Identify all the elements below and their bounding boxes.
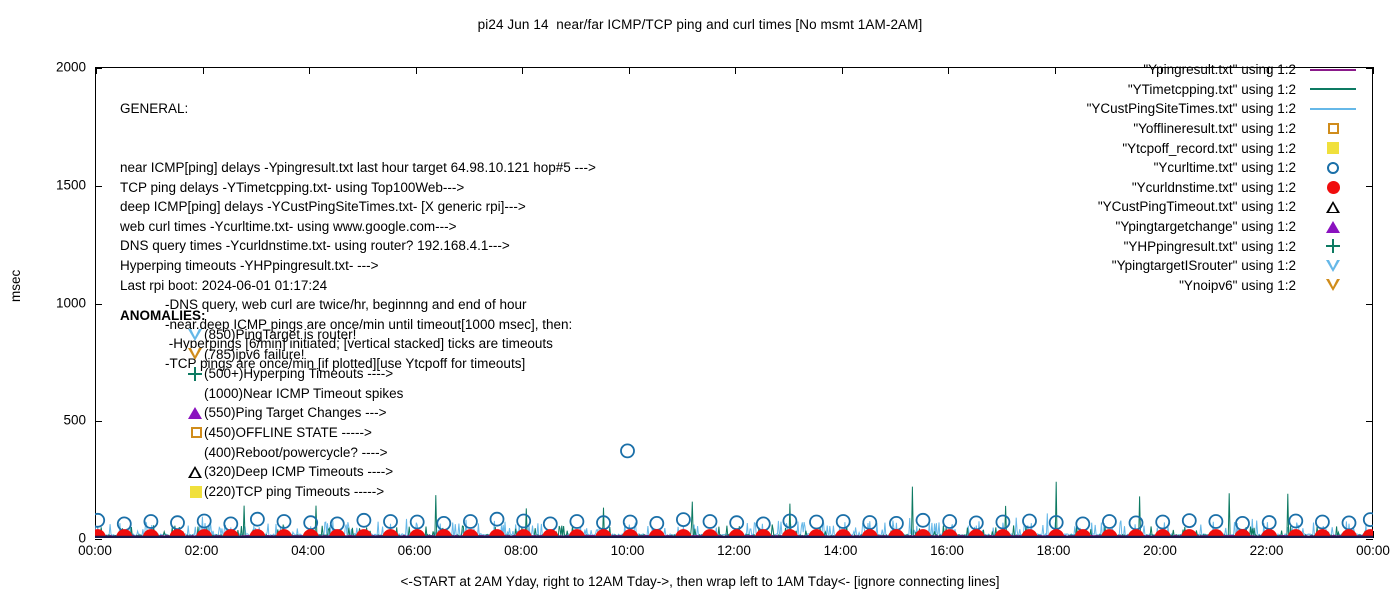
triangle-down-open-blue-icon [1326, 260, 1340, 272]
legend-entry: "Ytcpoff_record.txt" using 1:2 [950, 138, 1370, 158]
circle-filled-red-icon [1327, 181, 1340, 194]
legend-entry: "Ycurltime.txt" using 1:2 [950, 158, 1370, 178]
legend-key [1296, 256, 1370, 276]
chart-legend: "Ypingresult.txt" using 1:2"YTimetcpping… [950, 60, 1370, 295]
legend-key [1296, 80, 1370, 100]
y-axis-label: msec [8, 270, 23, 302]
anomalies-heading: ANOMALIES: [120, 306, 206, 326]
curltime-point [677, 513, 690, 526]
triangle-up-open-black-icon [1326, 201, 1340, 213]
curltime-point [1289, 515, 1302, 528]
square-open-orange-icon [1328, 123, 1339, 134]
chart-title: pi24 Jun 14 near/far ICMP/TCP ping and c… [0, 17, 1400, 32]
legend-line-teal-icon [1310, 88, 1356, 90]
curltime-point [1209, 515, 1222, 528]
curltime-point [171, 516, 184, 529]
legend-key [1296, 138, 1370, 158]
curltime-point [1050, 516, 1063, 529]
anomaly-marker [120, 364, 204, 384]
curltime-point [251, 513, 264, 526]
legend-entry: "YTimetcpping.txt" using 1:2 [950, 80, 1370, 100]
anomaly-marker [120, 482, 204, 502]
general-line: deep ICMP[ping] delays -YCustPingSiteTim… [120, 197, 596, 217]
general-line: web curl times -Ycurltime.txt- using www… [120, 217, 596, 237]
triangle-down-open-orange-icon [188, 348, 202, 360]
anomaly-label: (850)PingTarget is router! [204, 325, 356, 345]
legend-key [1296, 236, 1370, 256]
anomaly-label: (450)OFFLINE STATE -----> [204, 423, 372, 443]
anomaly-label: (400)Reboot/powercycle? ----> [204, 443, 387, 463]
curltime-point [943, 515, 956, 528]
legend-key [1296, 119, 1370, 139]
curltime-point [491, 513, 504, 526]
legend-key [1296, 178, 1370, 198]
curltime-point [810, 516, 823, 529]
legend-key [1296, 276, 1370, 296]
y-tick-label: 500 [63, 413, 86, 428]
legend-label: "Ytcpoff_record.txt" using 1:2 [1122, 141, 1296, 156]
curltime-point [517, 515, 530, 528]
curltime-point [357, 514, 370, 527]
x-tick-label: 10:00 [611, 543, 645, 558]
curltime-point [1263, 516, 1276, 529]
triangle-down-open-blue-icon [188, 329, 202, 341]
legend-label: "Ycurldnstime.txt" using 1:2 [1132, 180, 1296, 195]
curltime-point [1316, 516, 1329, 529]
x-tick-label: 04:00 [291, 543, 325, 558]
legend-entry: "YCustPingSiteTimes.txt" using 1:2 [950, 99, 1370, 119]
legend-key [1296, 60, 1370, 80]
y-tick-mark [95, 539, 102, 540]
x-tick-label: 00:00 [78, 543, 112, 558]
anomaly-marker [120, 345, 204, 365]
legend-label: "Ypingtargetchange" using 1:2 [1116, 219, 1296, 234]
legend-key [1296, 197, 1370, 217]
anomaly-marker [120, 403, 204, 423]
anomaly-row: (220)TCP ping Timeouts -----> [120, 482, 403, 502]
triangle-down-open-orange-icon [1326, 279, 1340, 291]
legend-entry: "Yofflineresult.txt" using 1:2 [950, 119, 1370, 139]
legend-key [1296, 158, 1370, 178]
anomaly-label: (1000)Near ICMP Timeout spikes [204, 384, 403, 404]
general-line: near ICMP[ping] delays -Ypingresult.txt … [120, 158, 596, 178]
x-tick-label: 18:00 [1037, 543, 1071, 558]
x-tick-mark [1373, 67, 1374, 74]
triangle-up-filled-purple-icon [1326, 221, 1340, 233]
anomaly-label: (785)ipv6 failure! [204, 345, 305, 365]
legend-key [1296, 217, 1370, 237]
y-tick-mark [1366, 539, 1373, 540]
curltime-point [1156, 516, 1169, 529]
curltime-point [1103, 515, 1116, 528]
legend-key [1296, 99, 1370, 119]
y-tick-label: 2000 [56, 60, 86, 75]
general-line: Last rpi boot: 2024-06-01 01:17:24 [120, 276, 596, 296]
square-filled-yellow-icon [190, 486, 202, 498]
curltime-point [570, 515, 583, 528]
x-tick-label: 06:00 [398, 543, 432, 558]
legend-entry: "YHPpingresult.txt" using 1:2 [950, 236, 1370, 256]
general-line: DNS query times -Ycurldnstime.txt- using… [120, 236, 596, 256]
anomalies-annotation: (850)PingTarget is router!(785)ipv6 fail… [120, 325, 403, 501]
plus-teal-icon [188, 367, 202, 381]
x-axis-label: <-START at 2AM Yday, right to 12AM Tday-… [0, 574, 1400, 589]
curltime-point [1236, 517, 1249, 530]
curltime-point [1023, 515, 1036, 528]
anomaly-row: (850)PingTarget is router! [120, 325, 403, 345]
legend-label: "Ynoipv6" using 1:2 [1179, 278, 1296, 293]
legend-label: "YCustPingSiteTimes.txt" using 1:2 [1087, 101, 1296, 116]
legend-label: "YpingtargetISrouter" using 1:2 [1112, 258, 1296, 273]
legend-label: "YCustPingTimeout.txt" using 1:2 [1098, 199, 1296, 214]
curltime-point [544, 517, 557, 530]
x-tick-label: 08:00 [504, 543, 538, 558]
anomaly-marker [120, 462, 204, 482]
anomaly-row: (400)Reboot/powercycle? ----> [120, 443, 403, 463]
legend-entry: "Ycurldnstime.txt" using 1:2 [950, 178, 1370, 198]
legend-line-lightblue-icon [1310, 108, 1356, 110]
y-tick-label: 1500 [56, 177, 86, 192]
x-tick-label: 22:00 [1250, 543, 1284, 558]
x-tick-label: 00:00 [1356, 543, 1390, 558]
legend-entry: "YpingtargetISrouter" using 1:2 [950, 256, 1370, 276]
legend-label: "YHPpingresult.txt" using 1:2 [1124, 239, 1296, 254]
general-line: TCP ping delays -YTimetcpping.txt- using… [120, 178, 596, 198]
legend-label: "Ycurltime.txt" using 1:2 [1154, 160, 1296, 175]
anomaly-row: (320)Deep ICMP Timeouts ----> [120, 462, 403, 482]
legend-line-purple-icon [1310, 69, 1356, 71]
circle-open-blue-icon [1327, 162, 1339, 174]
curltime-point [1076, 517, 1089, 530]
legend-entry: "Ypingtargetchange" using 1:2 [950, 217, 1370, 237]
anomaly-marker [120, 443, 204, 463]
curltime-point [650, 517, 663, 530]
curltime-point [1364, 513, 1373, 526]
anomaly-marker [120, 325, 204, 345]
curltime-point [837, 515, 850, 528]
x-tick-label: 14:00 [824, 543, 858, 558]
anomaly-row: (450)OFFLINE STATE -----> [120, 423, 403, 443]
general-line: Hyperping timeouts -YHPpingresult.txt- -… [120, 256, 596, 276]
anomaly-row: (1000)Near ICMP Timeout spikes [120, 384, 403, 404]
square-open-orange-icon [191, 427, 202, 438]
curltime-point [624, 516, 637, 529]
square-filled-yellow-icon [1327, 142, 1339, 154]
anomaly-row: (500+)Hyperping Timeouts ----> [120, 364, 403, 384]
anomaly-label: (550)Ping Target Changes ---> [204, 403, 386, 423]
anomaly-label: (500+)Hyperping Timeouts ----> [204, 364, 393, 384]
x-tick-mark [1373, 531, 1374, 538]
x-tick-label: 12:00 [717, 543, 751, 558]
curltime-point [917, 514, 930, 527]
anomaly-row: (785)ipv6 failure! [120, 345, 403, 365]
legend-label: "Ypingresult.txt" using 1:2 [1143, 62, 1296, 77]
legend-entry: "Ynoipv6" using 1:2 [950, 276, 1370, 296]
legend-entry: "Ypingresult.txt" using 1:2 [950, 60, 1370, 80]
curltime-point [621, 444, 634, 457]
x-tick-label: 20:00 [1143, 543, 1177, 558]
curltime-point [95, 514, 104, 527]
triangle-up-filled-purple-icon [188, 407, 202, 419]
curltime-point [757, 517, 770, 530]
legend-label: "YTimetcpping.txt" using 1:2 [1128, 82, 1296, 97]
anomaly-marker [120, 423, 204, 443]
curltime-point [198, 515, 211, 528]
anomaly-row: (550)Ping Target Changes ---> [120, 403, 403, 423]
x-tick-label: 16:00 [930, 543, 964, 558]
curltime-point [144, 515, 157, 528]
curltime-point [437, 517, 450, 530]
curltime-point [730, 516, 743, 529]
triangle-up-open-black-icon [188, 466, 202, 478]
anomaly-label: (220)TCP ping Timeouts -----> [204, 482, 384, 502]
anomaly-marker [120, 384, 204, 404]
plus-teal-icon [1326, 239, 1340, 253]
legend-label: "Yofflineresult.txt" using 1:2 [1133, 121, 1296, 136]
general-heading: GENERAL: [120, 99, 596, 119]
y-tick-label: 1000 [56, 295, 86, 310]
anomaly-label: (320)Deep ICMP Timeouts ----> [204, 462, 393, 482]
curltime-point [1183, 514, 1196, 527]
x-tick-label: 02:00 [185, 543, 219, 558]
legend-entry: "YCustPingTimeout.txt" using 1:2 [950, 197, 1370, 217]
curltime-point [704, 515, 717, 528]
